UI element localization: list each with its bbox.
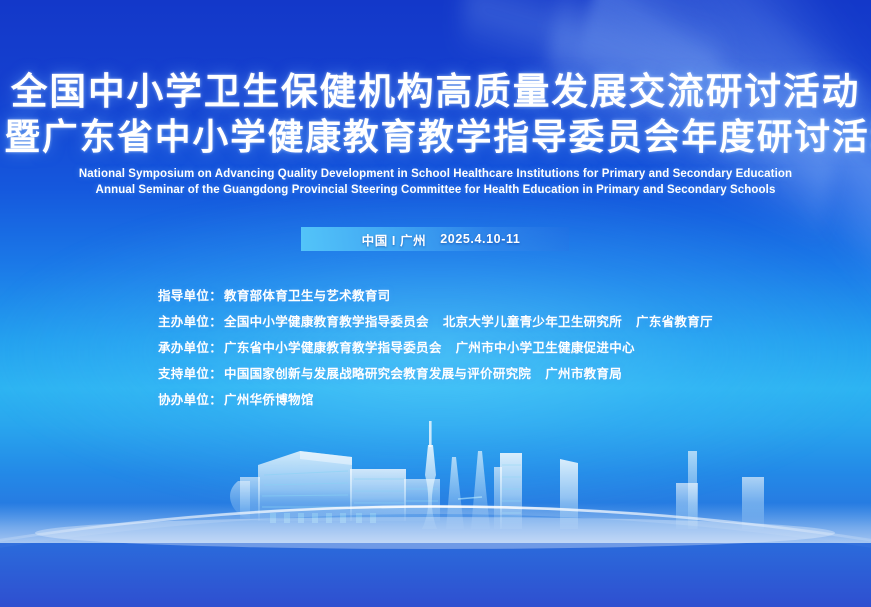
organizer-row: 主办单位：全国中小学健康教育教学指导委员会北京大学儿童青少年卫生研究所广东省教育… bbox=[158, 314, 798, 330]
organizer-value: 广州市教育局 bbox=[545, 366, 622, 382]
organizer-label: 指导单位： bbox=[158, 288, 222, 304]
poster-title-block: 全国中小学卫生保健机构高质量发展交流研讨活动 暨广东省中小学健康教育教学指导委员… bbox=[0, 70, 871, 198]
poster-title-line-2: 暨广东省中小学健康教育教学指导委员会年度研讨活动 bbox=[4, 116, 866, 158]
twin-spire-tower-icon bbox=[446, 451, 490, 529]
organizer-row: 承办单位：广东省中小学健康教育教学指导委员会广州市中小学卫生健康促进中心 bbox=[158, 340, 798, 356]
organizer-values: 教育部体育卫生与艺术教育司 bbox=[224, 288, 390, 304]
city-skyline-illustration bbox=[0, 417, 871, 607]
organizer-values: 中国国家创新与发展战略研究会教育发展与评价研究院广州市教育局 bbox=[224, 366, 622, 382]
badge-date: 2025.4.10-11 bbox=[440, 232, 520, 246]
poster-subtitle-en-line-2: Annual Seminar of the Guangdong Provinci… bbox=[0, 183, 871, 198]
location-date-badge: 中国 I 广州 2025.4.10-11 bbox=[301, 227, 569, 251]
organizer-list: 指导单位：教育部体育卫生与艺术教育司主办单位：全国中小学健康教育教学指导委员会北… bbox=[158, 288, 798, 418]
right-tower-b-icon bbox=[742, 477, 764, 529]
organizer-value: 北京大学儿童青少年卫生研究所 bbox=[443, 314, 622, 330]
organizer-value: 全国中小学健康教育教学指导委员会 bbox=[224, 314, 429, 330]
organizer-value: 广东省教育厅 bbox=[636, 314, 713, 330]
badge-location: 中国 I 广州 bbox=[362, 230, 427, 249]
organizer-label: 支持单位： bbox=[158, 366, 222, 382]
organizer-value: 广州市中小学卫生健康促进中心 bbox=[456, 340, 635, 356]
organizer-label: 主办单位： bbox=[158, 314, 222, 330]
poster-title-line-1: 全国中小学卫生保健机构高质量发展交流研讨活动 bbox=[4, 70, 866, 114]
organizer-row: 协办单位：广州华侨博物馆 bbox=[158, 392, 798, 408]
canton-tower-icon bbox=[422, 421, 437, 529]
organizer-value: 中国国家创新与发展战略研究会教育发展与评价研究院 bbox=[224, 366, 531, 382]
event-poster: 全国中小学卫生保健机构高质量发展交流研讨活动 暨广东省中小学健康教育教学指导委员… bbox=[0, 0, 871, 607]
organizer-values: 广东省中小学健康教育教学指导委员会广州市中小学卫生健康促进中心 bbox=[224, 340, 635, 356]
organizer-row: 指导单位：教育部体育卫生与艺术教育司 bbox=[158, 288, 798, 304]
organizer-value: 广东省中小学健康教育教学指导委员会 bbox=[224, 340, 442, 356]
school-building-icon bbox=[230, 451, 440, 523]
slab-tower-icon bbox=[560, 459, 578, 529]
organizer-values: 全国中小学健康教育教学指导委员会北京大学儿童青少年卫生研究所广东省教育厅 bbox=[224, 314, 713, 330]
organizer-row: 支持单位：中国国家创新与发展战略研究会教育发展与评价研究院广州市教育局 bbox=[158, 366, 798, 382]
organizer-values: 广州华侨博物馆 bbox=[224, 392, 314, 408]
organizer-value: 教育部体育卫生与艺术教育司 bbox=[224, 288, 390, 304]
organizer-label: 承办单位： bbox=[158, 340, 222, 356]
poster-subtitle-en-line-1: National Symposium on Advancing Quality … bbox=[0, 167, 871, 182]
organizer-label: 协办单位： bbox=[158, 392, 222, 408]
organizer-value: 广州华侨博物馆 bbox=[224, 392, 314, 408]
office-tower-icon bbox=[494, 453, 522, 529]
right-tower-a-icon bbox=[676, 451, 698, 529]
